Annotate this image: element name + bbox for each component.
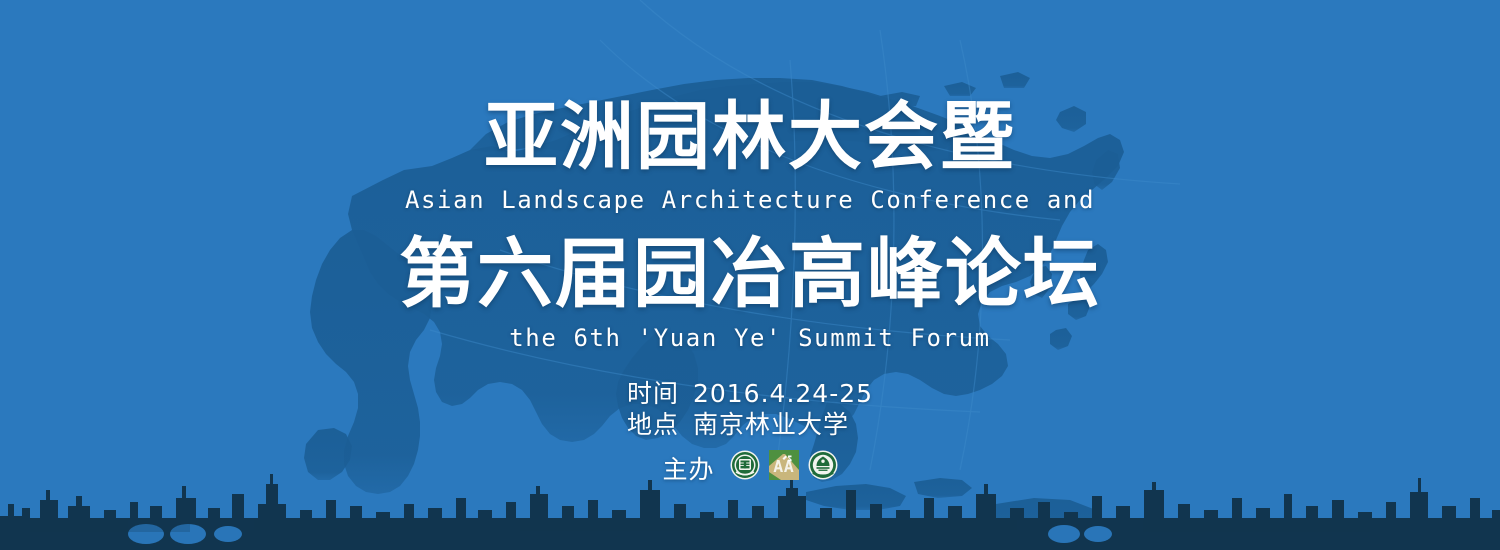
headline-chinese-secondary: 第六届园冶高峰论坛 [399,236,1101,312]
event-details: 时间 2016.4.24-25 地点 南京林业大学 [627,378,873,440]
headline-english-primary: Asian Landscape Architecture Conference … [405,186,1095,214]
event-date-row: 时间 2016.4.24-25 [627,378,873,409]
event-venue-value: 南京林业大学 [693,409,849,440]
event-date-label: 时间 [627,378,679,409]
host-organizers: 主办 [662,450,837,486]
event-venue-label: 地点 [627,409,679,440]
event-date-value: 2016.4.24-25 [693,378,873,409]
logo-asla-square [769,450,799,486]
conference-banner: 亚洲园林大会暨 Asian Landscape Architecture Con… [0,0,1500,550]
logo-chinese-society-emblem [730,450,760,486]
headline-chinese-primary: 亚洲园林大会暨 [484,100,1016,174]
banner-content: 亚洲园林大会暨 Asian Landscape Architecture Con… [0,0,1500,550]
logo-university-emblem [808,450,838,486]
event-venue-row: 地点 南京林业大学 [627,409,873,440]
host-label: 主办 [662,450,714,486]
headline-english-secondary: the 6th 'Yuan Ye' Summit Forum [509,324,990,352]
